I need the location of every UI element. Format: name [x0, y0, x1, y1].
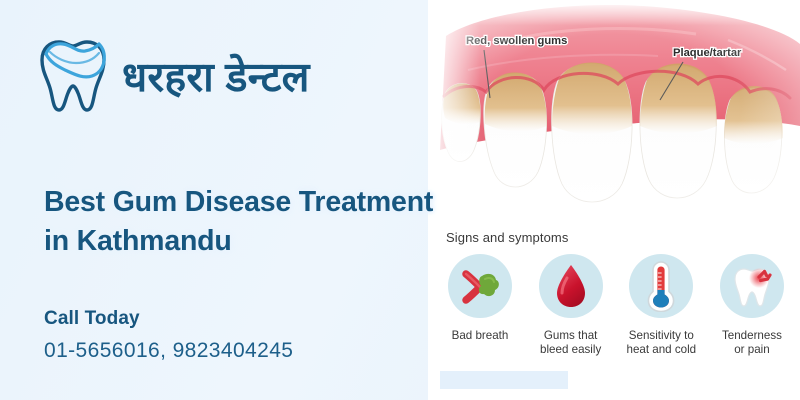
bottom-accent-band [440, 371, 568, 389]
brand-wordmark: धरहरा डेन्टल [122, 57, 310, 98]
symptom-bleeding-gums: Gums that bleed easily [527, 254, 615, 358]
tooth-icon [36, 38, 110, 116]
symptom-icon-wrapper [539, 254, 603, 318]
headline-line-1: Best Gum Disease Treatment [44, 183, 544, 222]
symptom-icon-wrapper [448, 254, 512, 318]
gum-disease-illustration: Red, swollen gums Plaque/tartar [428, 0, 800, 212]
promo-banner: धरहरा डेन्टल Best Gum Disease Treatment … [0, 0, 800, 400]
cta-title: Call Today [44, 308, 293, 331]
symptom-tenderness: Tenderness or pain [708, 254, 796, 358]
symptom-label: Sensitivity to heat and cold [627, 329, 697, 358]
symptom-label: Bad breath [452, 329, 509, 343]
symptom-label-line2: or pain [734, 343, 769, 356]
gum-illustration-graphic: Red, swollen gums Plaque/tartar [428, 0, 800, 212]
symptom-icon-wrapper [720, 254, 784, 318]
symptom-label-line1: Tenderness [722, 329, 782, 342]
cta-phone-number[interactable]: 01-5656016, 9823404245 [44, 338, 293, 363]
symptom-icon-wrapper [629, 254, 693, 318]
brand-logo[interactable]: धरहरा डेन्टल [36, 38, 310, 116]
headline-line-2: in Kathmandu [44, 222, 544, 261]
thermometer-icon [647, 260, 675, 312]
symptom-sensitivity: Sensitivity to heat and cold [617, 254, 705, 358]
symptom-label-line2: heat and cold [627, 343, 697, 356]
symptom-label-line1: Bad breath [452, 329, 509, 342]
symptom-label-line2: bleed easily [540, 343, 601, 356]
bad-breath-icon [457, 263, 503, 309]
symptom-bad-breath: Bad breath [436, 254, 524, 358]
symptom-label-line1: Sensitivity to [629, 329, 694, 342]
symptom-label: Gums that bleed easily [540, 329, 601, 358]
symptom-label: Tenderness or pain [722, 329, 782, 358]
symptom-label-line1: Gums that [544, 329, 597, 342]
symptoms-grid: Bad breath [436, 254, 796, 358]
tooth-pain-icon [728, 262, 776, 310]
blood-drop-icon [551, 262, 591, 310]
left-content-column: धरहरा डेन्टल Best Gum Disease Treatment … [0, 0, 440, 400]
page-title: Best Gum Disease Treatment in Kathmandu [44, 183, 544, 262]
call-to-action: Call Today 01-5656016, 9823404245 [44, 308, 293, 363]
